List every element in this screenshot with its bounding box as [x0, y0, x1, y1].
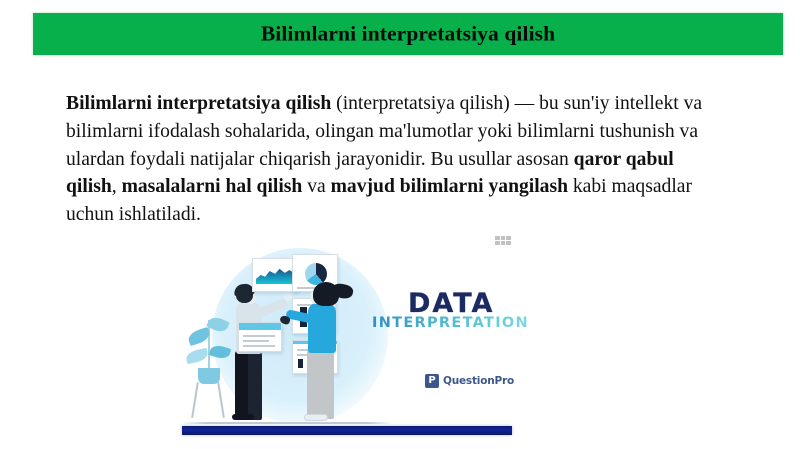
plant-stand-leg	[217, 382, 224, 418]
body-paragraph: Bilimlarni interpretatsiya qilish (inter…	[66, 90, 726, 229]
body-text-emphasis: mavjud bilimlarni yangilash	[331, 176, 568, 197]
card-text-line	[243, 345, 275, 347]
body-text-run: ,	[112, 176, 122, 197]
note-card-header	[239, 323, 281, 330]
man-hand	[284, 293, 292, 301]
illustration-heading-secondary: INTERPRETATION	[372, 316, 529, 331]
questionpro-logo-badge: P	[425, 374, 439, 388]
woman-legs	[307, 349, 334, 419]
man-leg	[248, 350, 262, 420]
illustration-floor-line	[182, 422, 392, 424]
man-shoe	[232, 414, 254, 420]
woman-shoe	[304, 414, 328, 421]
body-text-run: va	[302, 176, 330, 197]
body-text-emphasis: Bilimlarni interpretatsiya qilish	[66, 93, 331, 114]
woman-torso	[308, 303, 336, 353]
page-title: Bilimlarni interpretatsiya qilish	[33, 23, 783, 45]
bottom-accent-bar	[182, 426, 512, 435]
card-text-line	[243, 335, 275, 337]
area-chart-graphic	[256, 266, 294, 284]
body-text-emphasis: masalalarni hal qilish	[122, 176, 303, 197]
data-interpretation-illustration: DATA INTERPRETATION P QuestionPro	[176, 246, 520, 442]
card-text-line	[243, 340, 269, 342]
slide-header-banner: Bilimlarni interpretatsiya qilish	[33, 13, 783, 55]
plant-leaf	[185, 348, 209, 364]
illustration-heading-primary: DATA	[408, 290, 494, 317]
plant-stand-leg	[191, 382, 198, 418]
note-card	[238, 322, 282, 352]
list-marker	[298, 359, 303, 368]
questionpro-logo-text: QuestionPro	[443, 375, 514, 387]
questionpro-logo: P QuestionPro	[425, 374, 514, 388]
